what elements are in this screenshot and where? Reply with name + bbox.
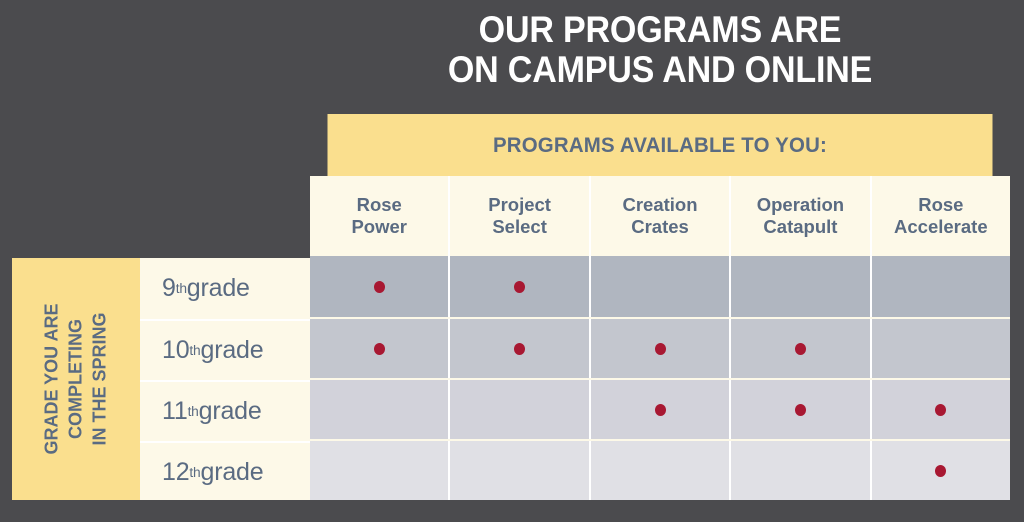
availability-dot-icon bbox=[935, 465, 946, 477]
grade-row-label-9[interactable]: 9th grade bbox=[140, 258, 310, 319]
column-header-1[interactable]: RosePower bbox=[310, 176, 450, 256]
column-header-4[interactable]: OperationCatapult bbox=[731, 176, 871, 256]
grade-axis-label-line-2: COMPLETING bbox=[64, 303, 88, 454]
availability-dot-icon bbox=[935, 404, 946, 416]
matrix-cell[interactable] bbox=[872, 380, 1010, 439]
availability-dot-icon bbox=[514, 343, 525, 355]
grade-number: 9 bbox=[162, 274, 176, 303]
grade-word: grade bbox=[201, 458, 264, 487]
matrix-cell[interactable] bbox=[310, 380, 450, 439]
column-header-row: RosePowerProjectSelectCreationCratesOper… bbox=[310, 176, 1010, 256]
column-header-line-2: Power bbox=[351, 216, 407, 238]
matrix-cell[interactable] bbox=[872, 441, 1010, 500]
matrix-row bbox=[310, 439, 1010, 500]
column-header-line-1: Creation bbox=[622, 194, 697, 216]
grade-row-labels: 9th grade10th grade11th grade12th grade bbox=[140, 258, 310, 500]
matrix-cell[interactable] bbox=[450, 319, 590, 378]
page-title-line-2: ON CAMPUS AND ONLINE bbox=[338, 50, 982, 90]
matrix-row bbox=[310, 317, 1010, 378]
matrix-body bbox=[310, 256, 1010, 500]
column-header-line-2: Accelerate bbox=[894, 216, 988, 238]
matrix-cell[interactable] bbox=[872, 319, 1010, 378]
matrix-cell[interactable] bbox=[591, 441, 731, 500]
availability-dot-icon bbox=[374, 281, 385, 293]
column-header-line-1: Rose bbox=[357, 194, 402, 216]
grade-row-label-11[interactable]: 11th grade bbox=[140, 380, 310, 441]
grade-row-label-12[interactable]: 12th grade bbox=[140, 441, 310, 502]
availability-dot-icon bbox=[655, 404, 666, 416]
programs-banner-label: PROGRAMS AVAILABLE TO YOU: bbox=[493, 133, 827, 158]
availability-dot-icon bbox=[795, 404, 806, 416]
matrix-row bbox=[310, 378, 1010, 439]
matrix-cell[interactable] bbox=[731, 256, 871, 317]
column-header-line-1: Rose bbox=[918, 194, 963, 216]
matrix-cell[interactable] bbox=[450, 380, 590, 439]
availability-dot-icon bbox=[795, 343, 806, 355]
page-title: OUR PROGRAMS ARE ON CAMPUS AND ONLINE bbox=[338, 10, 982, 90]
matrix-cell[interactable] bbox=[591, 319, 731, 378]
column-header-line-2: Catapult bbox=[763, 216, 837, 238]
matrix-cell[interactable] bbox=[310, 441, 450, 500]
column-header-3[interactable]: CreationCrates bbox=[591, 176, 731, 256]
grade-axis-label-line-3: IN THE SPRING bbox=[88, 303, 112, 454]
column-header-line-1: Project bbox=[488, 194, 551, 216]
page-title-line-1: OUR PROGRAMS ARE bbox=[338, 10, 982, 50]
grade-axis-block: GRADE YOU ARE COMPLETING IN THE SPRING 9… bbox=[12, 258, 310, 500]
grade-number: 11 bbox=[162, 397, 188, 426]
matrix-cell[interactable] bbox=[591, 380, 731, 439]
matrix-row bbox=[310, 256, 1010, 317]
programs-banner: PROGRAMS AVAILABLE TO YOU: bbox=[328, 114, 993, 176]
matrix-cell[interactable] bbox=[731, 380, 871, 439]
availability-dot-icon bbox=[655, 343, 666, 355]
matrix-cell[interactable] bbox=[450, 256, 590, 317]
grade-axis-label-line-1: GRADE YOU ARE bbox=[40, 303, 64, 454]
matrix-cell[interactable] bbox=[310, 256, 450, 317]
grade-number: 10 bbox=[162, 336, 189, 365]
matrix-cell[interactable] bbox=[731, 319, 871, 378]
programs-matrix: PROGRAMS AVAILABLE TO YOU: RosePowerProj… bbox=[310, 114, 1010, 500]
grade-word: grade bbox=[199, 397, 262, 426]
matrix-cell[interactable] bbox=[450, 441, 590, 500]
grade-word: grade bbox=[201, 336, 264, 365]
grade-word: grade bbox=[187, 274, 250, 303]
grade-number: 12 bbox=[162, 458, 189, 487]
column-header-line-2: Crates bbox=[631, 216, 689, 238]
matrix-cell[interactable] bbox=[591, 256, 731, 317]
matrix-cell[interactable] bbox=[731, 441, 871, 500]
column-header-2[interactable]: ProjectSelect bbox=[450, 176, 590, 256]
matrix-cell[interactable] bbox=[310, 319, 450, 378]
grade-row-label-10[interactable]: 10th grade bbox=[140, 319, 310, 380]
column-header-line-2: Select bbox=[492, 216, 547, 238]
column-header-line-1: Operation bbox=[757, 194, 844, 216]
availability-dot-icon bbox=[514, 281, 525, 293]
availability-dot-icon bbox=[374, 343, 385, 355]
grade-axis-label: GRADE YOU ARE COMPLETING IN THE SPRING bbox=[12, 258, 140, 500]
column-header-5[interactable]: RoseAccelerate bbox=[872, 176, 1010, 256]
matrix-cell[interactable] bbox=[872, 256, 1010, 317]
